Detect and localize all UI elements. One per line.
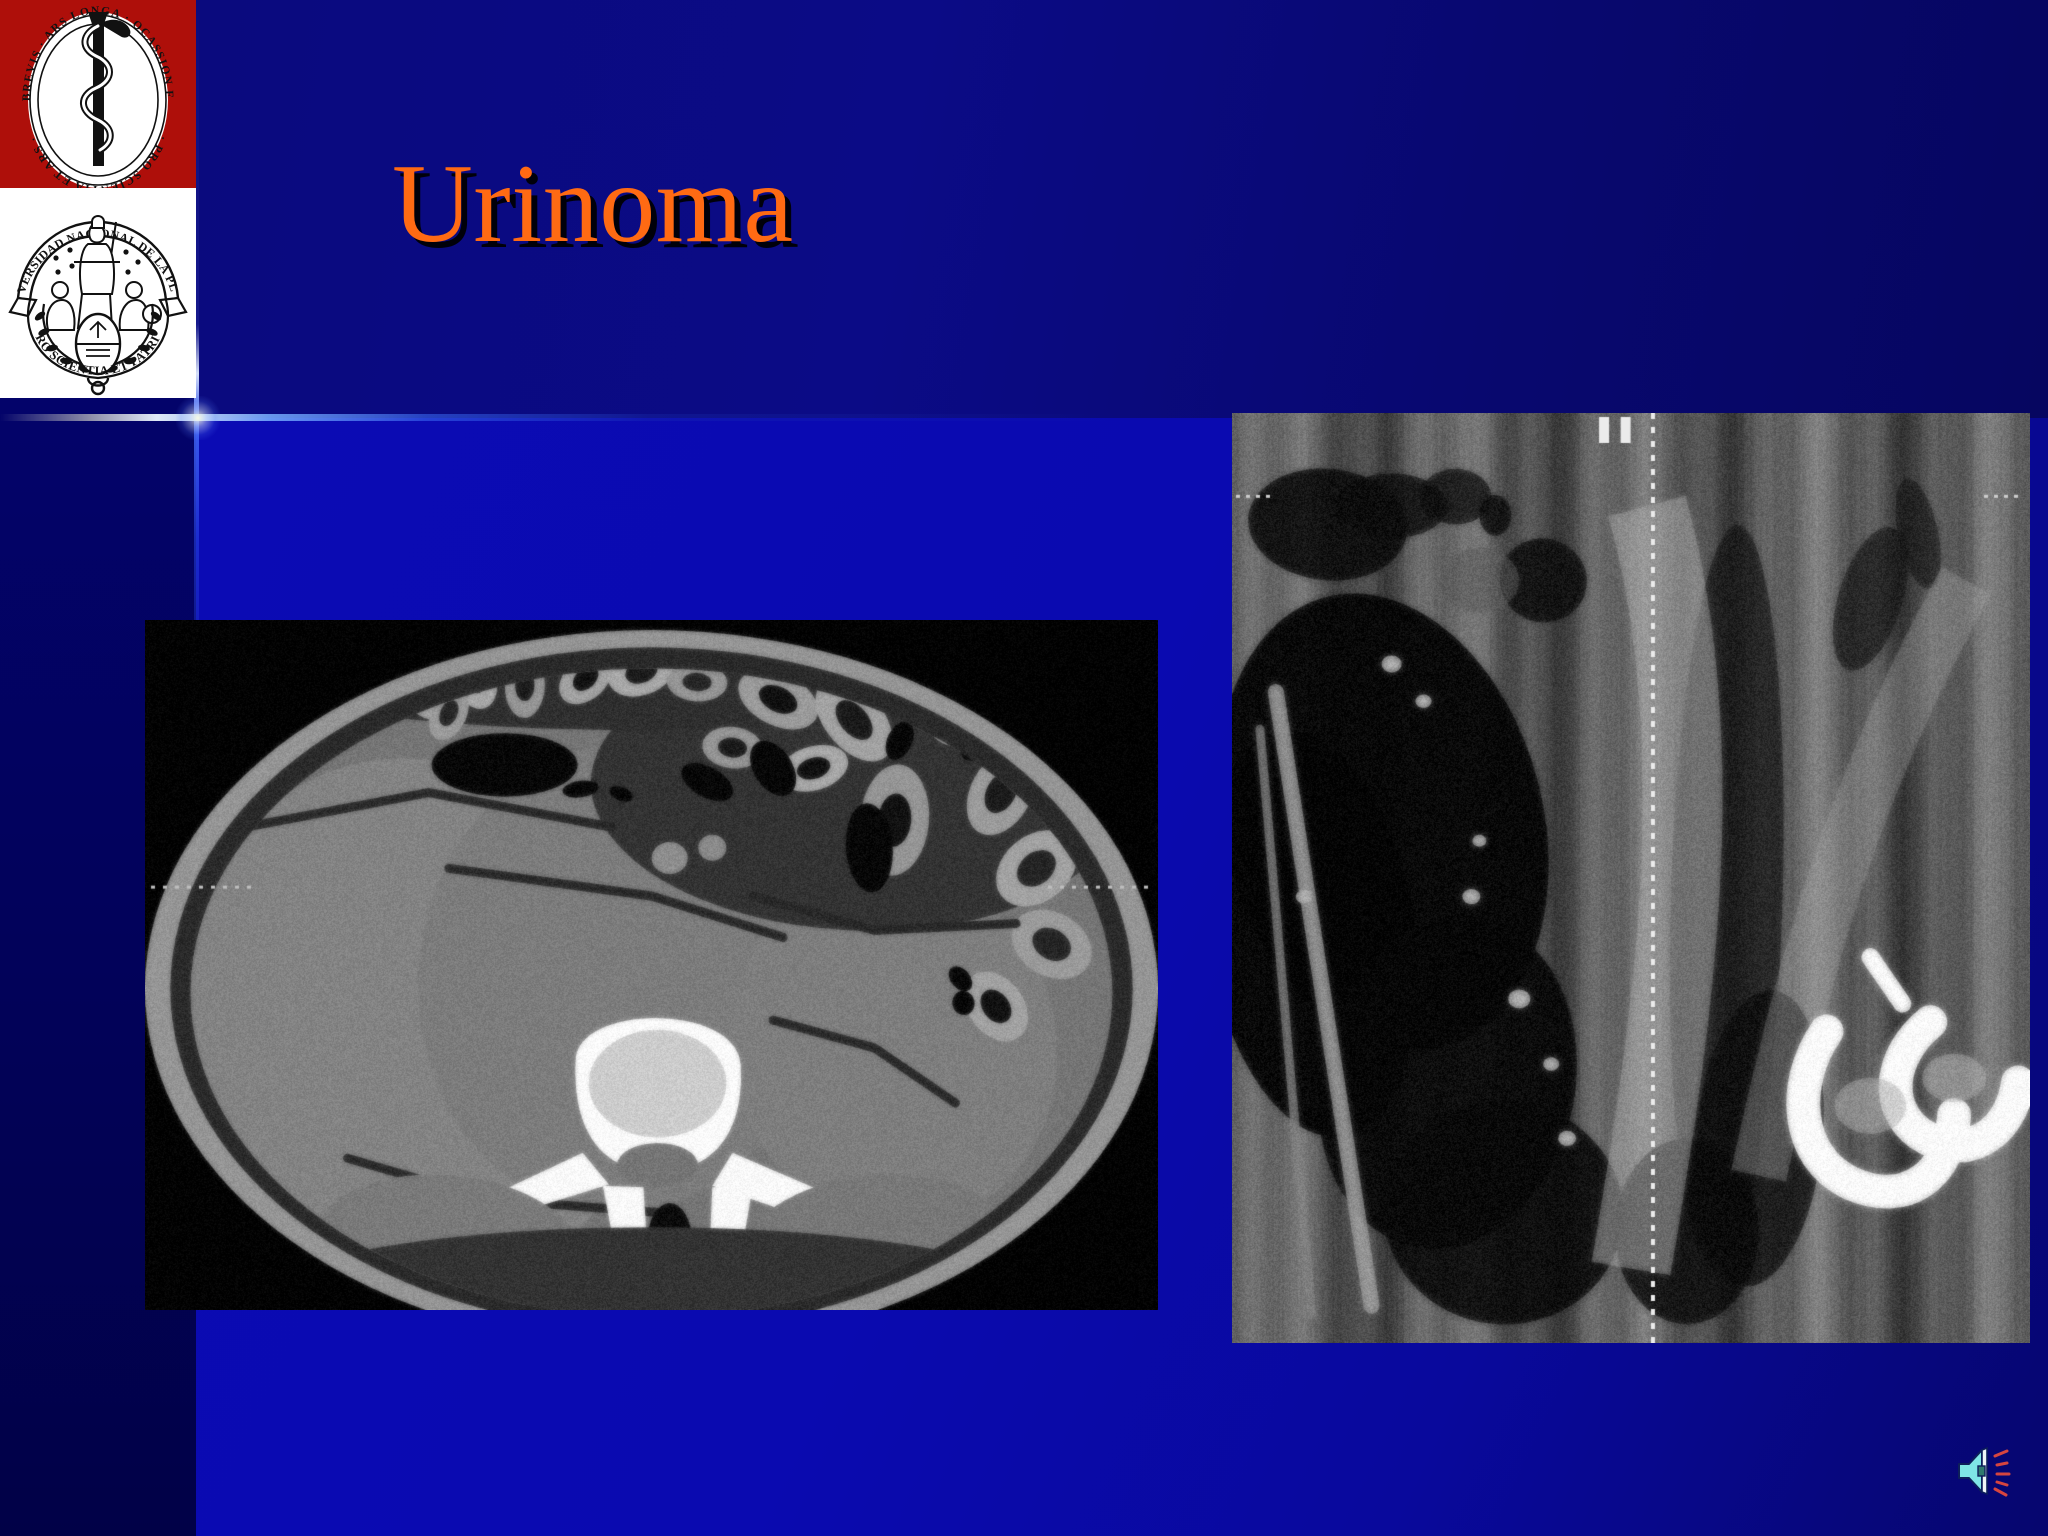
medical-faculty-seal-icon: VITA BREVIS · ARS LONGA · OCASSION FUGAX… bbox=[0, 0, 196, 188]
ct-axial-abdomen-image bbox=[145, 620, 1158, 1310]
logo-column: VITA BREVIS · ARS LONGA · OCASSION FUGAX… bbox=[0, 0, 196, 398]
university-coat-of-arms-icon: UNIVERSIDAD NACIONAL DE LA PLATA bbox=[0, 188, 196, 398]
speaker-sound-icon[interactable] bbox=[1955, 1442, 2017, 1500]
horizontal-accent-rule bbox=[0, 414, 1120, 421]
presentation-slide: VITA BREVIS · ARS LONGA · OCASSION FUGAX… bbox=[0, 0, 2048, 1536]
ct-coronal-reformat-image bbox=[1232, 413, 2030, 1343]
rule-intersection-glow bbox=[176, 396, 220, 440]
slide-title: Urinoma bbox=[392, 148, 794, 260]
